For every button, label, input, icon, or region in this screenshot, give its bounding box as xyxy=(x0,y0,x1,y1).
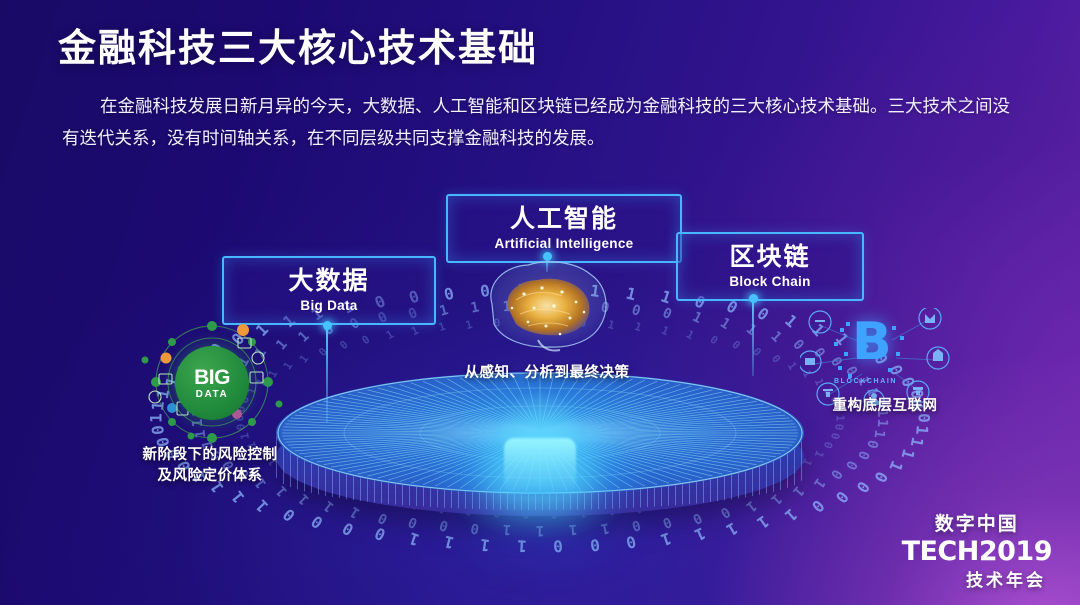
connector-knob-icon xyxy=(749,294,758,303)
binary-digit: 1 xyxy=(624,284,638,305)
caption-ai-line1: 从感知、分析到最终决策 xyxy=(432,363,662,384)
tech-box-ai-en: Artificial Intelligence xyxy=(464,236,664,251)
logo-wordmark: TECH2019 xyxy=(902,538,1052,565)
ai-brain-icon xyxy=(476,256,616,360)
binary-digit: 0 xyxy=(852,478,873,496)
caption-ai: 从感知、分析到最终决策 xyxy=(432,363,662,384)
binary-digit: 1 xyxy=(437,320,447,334)
binary-digit: 0 xyxy=(754,303,773,324)
binary-digit: 0 xyxy=(828,432,842,441)
binary-digit: 1 xyxy=(438,302,451,320)
slide-canvas: 1010110100101101001011010010110100101101… xyxy=(0,0,1080,605)
binary-digit: 1 xyxy=(874,418,890,427)
binary-digit: 0 xyxy=(337,338,351,352)
binary-digit: 1 xyxy=(717,315,733,333)
tech-box-blockchain-cn: 区块链 xyxy=(694,243,846,271)
caption-bigdata-line2: 及风险定价体系 xyxy=(110,466,310,487)
binary-digit: 0 xyxy=(360,333,373,347)
binary-digit: 1 xyxy=(912,424,932,435)
binary-digit: 1 xyxy=(907,435,927,448)
tech-box-bigdata[interactable]: 大数据 Big Data xyxy=(222,256,436,325)
binary-digit: 0 xyxy=(708,333,721,347)
binary-digit: 0 xyxy=(827,466,845,481)
bigdata-badge-bottom: DATA xyxy=(196,389,229,400)
tech-box-ai[interactable]: 人工智能 Artificial Intelligence xyxy=(446,194,682,263)
binary-digit: 1 xyxy=(781,311,801,332)
binary-digit: 1 xyxy=(690,309,705,327)
connector-knob-icon xyxy=(323,321,332,330)
tech-box-bigdata-cn: 大数据 xyxy=(240,267,418,295)
binary-digit: 1 xyxy=(767,328,784,345)
binary-digit: 1 xyxy=(885,458,906,474)
binary-digit: 0 xyxy=(854,448,872,461)
caption-blockchain: 重构底层互联网 xyxy=(795,396,975,417)
binary-digit: 1 xyxy=(810,475,828,491)
binary-digit: 0 xyxy=(821,440,835,450)
binary-digit: 0 xyxy=(630,302,643,320)
logo-mark-year: 2019 xyxy=(979,536,1052,567)
binary-digit: 1 xyxy=(743,321,759,339)
binary-digit: 1 xyxy=(384,328,396,343)
caption-blockchain-line1: 重构底层互联网 xyxy=(795,396,975,417)
binary-digit: 1 xyxy=(812,448,827,459)
binary-digit: 1 xyxy=(659,324,670,339)
binary-digit: 0 xyxy=(842,458,860,472)
binary-digit: 1 xyxy=(898,447,919,462)
binary-digit: 1 xyxy=(658,286,673,307)
blockchain-icon-cluster: B BLOCKCHAIN xyxy=(800,308,950,408)
binary-digit: 1 xyxy=(409,324,420,339)
caption-bigdata-line1: 新阶段下的风险控制 xyxy=(110,445,310,466)
blockchain-badge-letter: B xyxy=(852,316,892,368)
binary-digit: 0 xyxy=(870,468,891,485)
tech-box-ai-cn: 人工智能 xyxy=(464,205,664,233)
tech-box-blockchain[interactable]: 区块链 Block Chain xyxy=(676,232,864,301)
logo-mark-tech: TECH xyxy=(902,536,979,567)
binary-digit: 1 xyxy=(228,487,249,506)
disc-core-crystal xyxy=(504,438,576,496)
binary-digit: 0 xyxy=(729,338,743,352)
connector-blockchain xyxy=(752,298,754,376)
tech-box-blockchain-en: Block Chain xyxy=(694,274,846,289)
intro-paragraph: 在金融科技发展日新月异的今天，大数据、人工智能和区块链已经成为金融科技的三大核心… xyxy=(62,90,1024,154)
logo-cn-top: 数字中国 xyxy=(902,509,1052,536)
bigdata-badge-top: BIG xyxy=(194,367,230,388)
binary-digit: 1 xyxy=(295,328,312,345)
bigdata-icon-cluster: BIG DATA xyxy=(131,318,293,446)
binary-digit: 1 xyxy=(464,318,474,332)
blockchain-badge-word: BLOCKCHAIN xyxy=(834,378,897,385)
event-logo: 数字中国 TECH2019 技术年会 xyxy=(902,509,1052,591)
tech-box-bigdata-en: Big Data xyxy=(240,298,418,313)
binary-digit: 0 xyxy=(832,423,846,431)
binary-digit: 1 xyxy=(684,328,696,343)
binary-digit: 0 xyxy=(832,487,853,506)
logo-cn-bottom: 技术年会 xyxy=(902,566,1052,591)
connector-bigdata xyxy=(326,325,328,423)
binary-digit: 0 xyxy=(863,438,881,450)
binary-digit: 0 xyxy=(660,305,674,323)
page-title: 金融科技三大核心技术基础 xyxy=(58,17,538,72)
binary-digit: 1 xyxy=(633,320,643,334)
binary-digit: 0 xyxy=(442,284,456,305)
binary-digit: 1 xyxy=(870,429,887,440)
bigdata-badge: BIG DATA xyxy=(175,346,249,420)
caption-bigdata: 新阶段下的风险控制 及风险定价体系 xyxy=(110,445,310,487)
